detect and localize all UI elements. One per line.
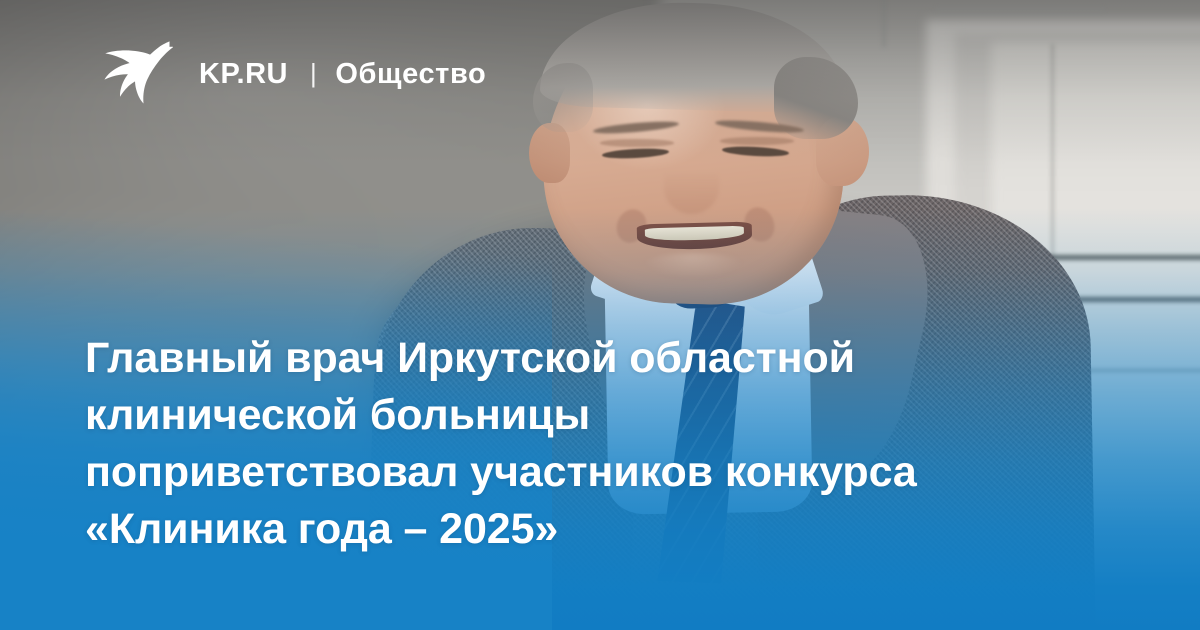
headline-line: клинической больницы <box>85 387 1085 444</box>
category-label[interactable]: Общество <box>335 60 486 89</box>
headline-line: поприветствовал участников конкурса <box>85 444 1085 501</box>
headline: Главный врач Иркутской областной клиниче… <box>85 330 1085 558</box>
headline-line: Главный врач Иркутской областной <box>85 330 1085 387</box>
brand-line: KP.RU | Общество <box>199 60 486 89</box>
headline-line: «Клиника года – 2025» <box>85 501 1085 558</box>
social-share-card: KP.RU | Общество Главный врач Иркутской … <box>0 0 1200 630</box>
brand-name[interactable]: KP.RU <box>199 60 288 89</box>
card-header: KP.RU | Общество <box>95 38 486 110</box>
brand-separator: | <box>310 60 317 86</box>
swallow-bird-logo-icon[interactable] <box>95 38 173 110</box>
